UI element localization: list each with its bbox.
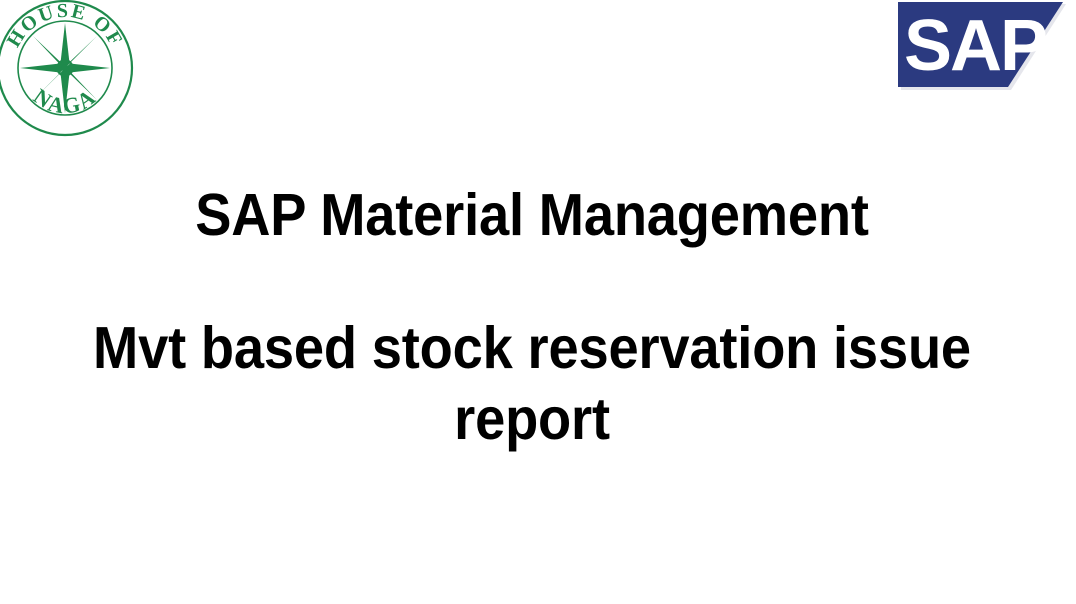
slide-canvas: HOUSE OF NAGA SAP SAP Material Managemen… [0, 0, 1076, 604]
page-title: SAP Material Management [43, 186, 1022, 245]
sap-logo: SAP [894, 0, 1069, 96]
page-subtitle-line-2: report [43, 390, 1022, 449]
title-spacer [0, 245, 1064, 319]
slide-title-block: SAP Material Management Mvt based stock … [0, 186, 1064, 449]
logo-center-hub [61, 64, 68, 71]
sap-wordmark: SAP [904, 6, 1046, 86]
house-of-naga-logo: HOUSE OF NAGA [0, 0, 136, 139]
page-subtitle-line-1: Mvt based stock reservation issue [43, 319, 1022, 378]
